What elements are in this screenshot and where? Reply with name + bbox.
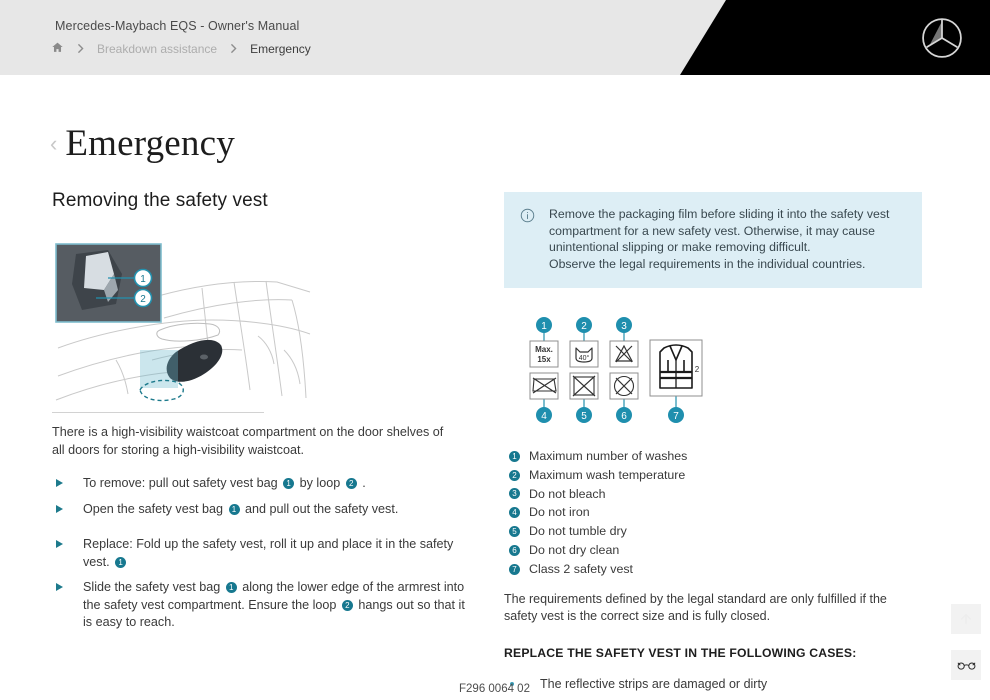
left-column: Removing the safety vest [52, 190, 472, 640]
safety-vest-symbol: 2 [650, 340, 702, 396]
svg-text:3: 3 [621, 321, 627, 332]
callout-badge: 2 [346, 478, 357, 489]
step-arrow-icon [56, 505, 63, 513]
svg-text:1: 1 [140, 274, 146, 285]
breadcrumb-separator-1 [71, 43, 90, 56]
svg-text:40°: 40° [579, 354, 590, 362]
manual-title: Mercedes-Maybach EQS - Owner's Manual [55, 19, 299, 33]
info-icon [520, 208, 535, 272]
callout-badge: 1 [115, 557, 126, 568]
legend-item: 1Maximum number of washes [504, 447, 922, 466]
symbol-badge-4: 4 [536, 407, 552, 423]
figure-code: F296 0064 02 [459, 683, 530, 695]
legend-label: Maximum wash temperature [529, 466, 685, 485]
arrow-up-icon [958, 611, 974, 627]
breadcrumb-separator-2 [224, 43, 243, 56]
svg-text:5: 5 [581, 411, 587, 422]
step-arrow-icon [56, 479, 63, 487]
do-not-bleach-symbol [610, 341, 638, 367]
step-text: To remove: pull out safety vest bag [83, 476, 281, 490]
legend-label: Class 2 safety vest [529, 560, 633, 579]
legend-label: Do not bleach [529, 485, 605, 504]
illustration-divider [52, 412, 264, 413]
callout-badge: 1 [226, 582, 237, 593]
legend-badge: 2 [509, 470, 520, 481]
breadcrumb: Breakdown assistance Emergency [51, 41, 311, 57]
intro-paragraph: There is a high-visibility waistcoat com… [52, 424, 452, 459]
care-symbols-grid: 1 2 3 Max. 15x 40° [528, 316, 922, 429]
step-text: Open the safety vest bag [83, 502, 227, 516]
step-text: and pull out the safety vest. [242, 502, 399, 516]
svg-text:7: 7 [673, 411, 679, 422]
svg-text:1: 1 [541, 321, 547, 332]
svg-text:4: 4 [541, 411, 547, 422]
legend-badge: 1 [509, 451, 520, 462]
info-box: Remove the packaging film before sliding… [504, 192, 922, 288]
step-text: by loop [296, 476, 344, 490]
door-shelf-safety-vest-illustration: 1 2 [52, 240, 314, 408]
section-heading: Removing the safety vest [52, 190, 472, 212]
legend-item: 7Class 2 safety vest [504, 560, 922, 579]
callout-badge-2: 2 [135, 290, 152, 307]
info-line-1: Remove the packaging film before sliding… [549, 206, 906, 256]
symbol-badge-5: 5 [576, 407, 592, 423]
symbol-badge-2: 2 [576, 317, 592, 333]
callout-badge: 2 [342, 600, 353, 611]
do-not-tumble-dry-symbol [570, 373, 598, 399]
legend-badge: 6 [509, 545, 520, 556]
legend-label: Do not tumble dry [529, 522, 627, 541]
step-text: Slide the safety vest bag [83, 580, 224, 594]
wash-temperature-symbol: 40° [570, 341, 598, 367]
legend-badge: 4 [509, 507, 520, 518]
callout-badge-1: 1 [135, 270, 152, 287]
page-title-row: ‹ Emergency [50, 100, 235, 187]
legend-item: 3Do not bleach [504, 485, 922, 504]
info-line-2: Observe the legal requirements in the in… [549, 256, 906, 273]
legend-badge: 3 [509, 488, 520, 499]
step-arrow-icon [56, 540, 63, 548]
legend-item: 6Do not dry clean [504, 541, 922, 560]
home-icon[interactable] [51, 41, 64, 57]
right-column: Remove the packaging film before sliding… [504, 192, 922, 693]
info-box-text: Remove the packaging film before sliding… [549, 206, 906, 272]
svg-text:2: 2 [695, 365, 700, 374]
step-item: To remove: pull out safety vest bag 1 by… [52, 475, 472, 493]
breadcrumb-item-breakdown-assistance[interactable]: Breakdown assistance [97, 42, 217, 56]
do-not-dry-clean-symbol [610, 373, 638, 399]
symbol-badge-6: 6 [616, 407, 632, 423]
svg-text:6: 6 [621, 411, 627, 422]
callout-badge: 1 [283, 478, 294, 489]
do-not-iron-symbol [530, 373, 558, 399]
step-arrow-icon [56, 583, 63, 591]
steps-list: To remove: pull out safety vest bag 1 by… [52, 475, 472, 632]
legend-badge: 5 [509, 526, 520, 537]
callout-badge: 1 [229, 504, 240, 515]
step-text: . [359, 476, 366, 490]
step-item: Replace: Fold up the safety vest, roll i… [52, 536, 472, 571]
max-washes-symbol: Max. 15x [530, 341, 558, 367]
step-item: Open the safety vest bag 1 and pull out … [52, 501, 472, 519]
svg-text:Max.: Max. [535, 345, 553, 354]
legend-label: Do not iron [529, 503, 590, 522]
scroll-to-top-button[interactable] [951, 604, 981, 634]
step-text: Replace: Fold up the safety vest, roll i… [83, 537, 453, 569]
legend-item: 2Maximum wash temperature [504, 466, 922, 485]
mercedes-star-icon [920, 16, 964, 60]
replace-case-item: The reflective strips are damaged or dir… [504, 676, 922, 694]
symbol-badge-7: 7 [668, 407, 684, 423]
symbol-badge-1: 1 [536, 317, 552, 333]
legend-label: Maximum number of washes [529, 447, 687, 466]
legend-item: 4Do not iron [504, 503, 922, 522]
glasses-icon [957, 659, 976, 672]
reading-glasses-button[interactable] [951, 650, 981, 680]
app-header: Mercedes-Maybach EQS - Owner's Manual Br… [0, 0, 990, 75]
svg-text:15x: 15x [537, 355, 551, 364]
back-chevron-icon[interactable]: ‹ [50, 133, 57, 155]
page-title: Emergency [65, 125, 235, 162]
breadcrumb-item-emergency[interactable]: Emergency [250, 42, 311, 56]
requirements-paragraph: The requirements defined by the legal st… [504, 591, 916, 626]
svg-text:2: 2 [581, 321, 587, 332]
step-item: Slide the safety vest bag 1 along the lo… [52, 579, 472, 632]
svg-text:2: 2 [140, 294, 146, 305]
care-symbols-legend: 1Maximum number of washes2Maximum wash t… [504, 447, 922, 579]
legend-item: 5Do not tumble dry [504, 522, 922, 541]
legend-label: Do not dry clean [529, 541, 619, 560]
replace-cases-list: The reflective strips are damaged or dir… [504, 676, 922, 694]
replace-subheading: REPLACE THE SAFETY VEST IN THE FOLLOWING… [504, 646, 922, 660]
legend-badge: 7 [509, 564, 520, 575]
symbol-badge-3: 3 [616, 317, 632, 333]
